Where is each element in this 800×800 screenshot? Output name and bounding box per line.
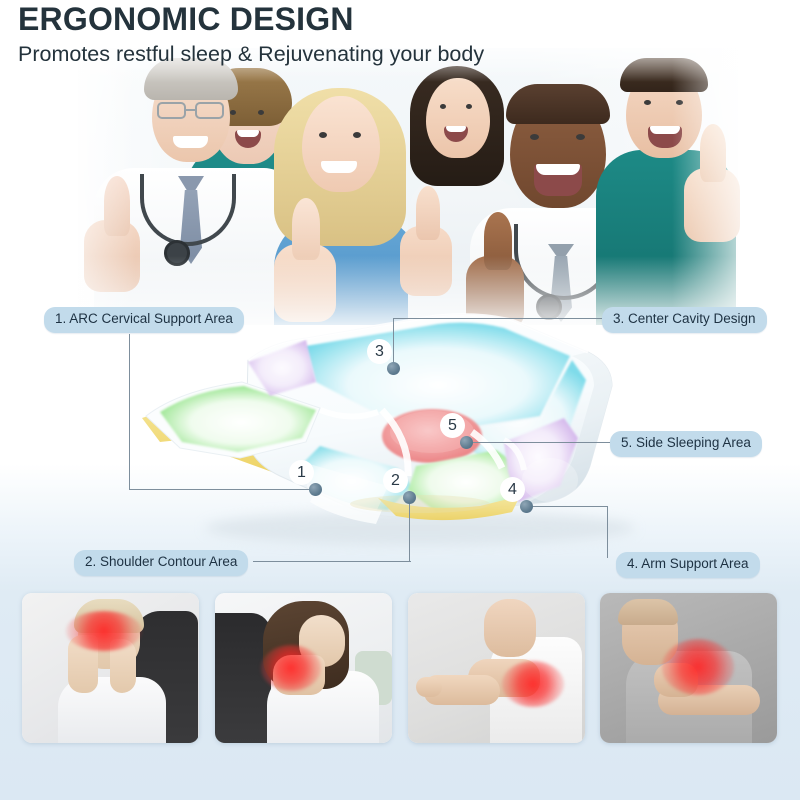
leader-line-2-horizontal <box>253 561 411 562</box>
marker-number-2: 2 <box>383 468 408 493</box>
page-title: ERGONOMIC DESIGN <box>18 2 484 37</box>
infographic-page: ERGONOMIC DESIGN Promotes restful sleep … <box>0 0 800 800</box>
marker-dot-2 <box>403 491 416 504</box>
symptom-photo-arm-numbness <box>408 593 585 743</box>
leader-line-5-horizontal <box>466 442 614 443</box>
marker-number-4: 4 <box>500 477 525 502</box>
header: ERGONOMIC DESIGN Promotes restful sleep … <box>18 2 484 66</box>
page-subtitle: Promotes restful sleep & Rejuvenating yo… <box>18 43 484 67</box>
leader-line-4-horizontal <box>527 506 608 507</box>
leader-line-1-vertical <box>129 334 130 490</box>
callout-4-arm-support[interactable]: 4. Arm Support Area <box>616 552 760 578</box>
callout-5-side-sleeping[interactable]: 5. Side Sleeping Area <box>610 431 762 457</box>
symptom-card-arm-numbness[interactable]: Arm Numbness <box>408 593 585 743</box>
marker-dot-3 <box>387 362 400 375</box>
leader-line-1-horizontal <box>129 489 315 490</box>
callout-1-arc-cervical-support[interactable]: 1. ARC Cervical Support Area <box>44 307 244 333</box>
symptom-card-headache[interactable]: Headache <box>22 593 199 743</box>
callout-2-shoulder-contour[interactable]: 2. Shoulder Contour Area <box>74 550 248 576</box>
marker-dot-4 <box>520 500 533 513</box>
marker-number-5: 5 <box>440 413 465 438</box>
symptom-photo-neck-pain <box>215 593 392 743</box>
marker-dot-1 <box>309 483 322 496</box>
symptom-photo-stiff-shoulders <box>600 593 777 743</box>
doctors-photo <box>0 40 800 325</box>
leader-line-3-horizontal <box>393 318 612 319</box>
leader-line-3-vertical <box>393 318 394 368</box>
callout-3-center-cavity[interactable]: 3. Center Cavity Design <box>602 307 767 333</box>
symptom-card-stiff-shoulders[interactable]: Stiff Shoulders <box>600 593 777 743</box>
doctors-photo-inner <box>78 48 738 325</box>
symptom-card-neck-pain[interactable]: Neck Pain <box>215 593 392 743</box>
leader-line-2-vertical <box>409 500 410 562</box>
symptom-photo-headache <box>22 593 199 743</box>
marker-number-1: 1 <box>289 460 314 485</box>
symptom-card-row: Headache Neck Pain <box>0 588 800 800</box>
marker-dot-5 <box>460 436 473 449</box>
marker-number-3: 3 <box>367 339 392 364</box>
leader-line-4-vertical <box>607 506 608 558</box>
